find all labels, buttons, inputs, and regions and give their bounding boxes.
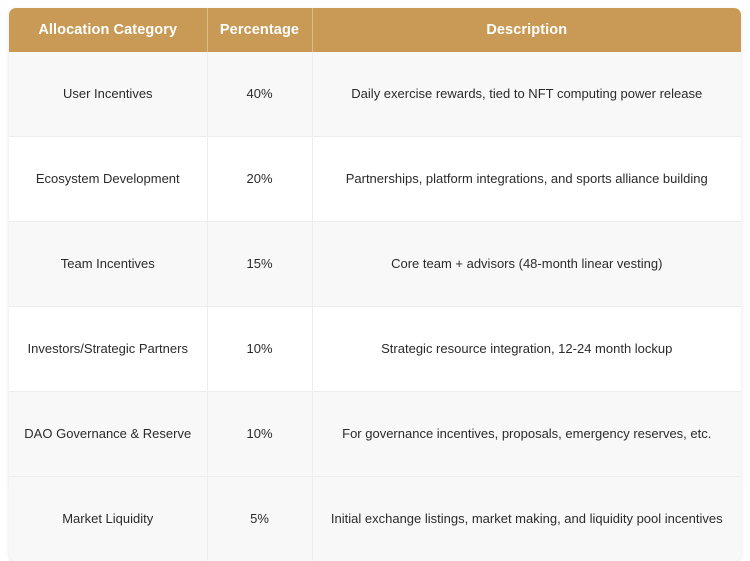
cell-description: Core team + advisors (48-month linear ve… <box>312 222 741 307</box>
cell-allocation-category: Investors/Strategic Partners <box>9 307 207 392</box>
table-row: Market Liquidity 5% Initial exchange lis… <box>9 477 741 561</box>
table-row: Ecosystem Development 20% Partnerships, … <box>9 137 741 222</box>
cell-percentage: 15% <box>207 222 312 307</box>
cell-allocation-category: Market Liquidity <box>9 477 207 561</box>
table-row: User Incentives 40% Daily exercise rewar… <box>9 52 741 137</box>
table-body: User Incentives 40% Daily exercise rewar… <box>9 52 741 561</box>
table-row: Team Incentives 15% Core team + advisors… <box>9 222 741 307</box>
cell-allocation-category: DAO Governance & Reserve <box>9 392 207 477</box>
allocation-table: Allocation Category Percentage Descripti… <box>9 8 741 561</box>
cell-percentage: 10% <box>207 307 312 392</box>
column-header-description[interactable]: Description <box>312 8 741 52</box>
page-root: Allocation Category Percentage Descripti… <box>0 0 750 488</box>
cell-percentage: 5% <box>207 477 312 561</box>
table-header-row: Allocation Category Percentage Descripti… <box>9 8 741 52</box>
cell-description: Daily exercise rewards, tied to NFT comp… <box>312 52 741 137</box>
allocation-table-container: Allocation Category Percentage Descripti… <box>9 8 741 561</box>
cell-description: Partnerships, platform integrations, and… <box>312 137 741 222</box>
cell-allocation-category: User Incentives <box>9 52 207 137</box>
cell-percentage: 10% <box>207 392 312 477</box>
cell-allocation-category: Ecosystem Development <box>9 137 207 222</box>
table-row: DAO Governance & Reserve 10% For governa… <box>9 392 741 477</box>
table-row: Investors/Strategic Partners 10% Strateg… <box>9 307 741 392</box>
column-header-percentage[interactable]: Percentage <box>207 8 312 52</box>
cell-description: Strategic resource integration, 12-24 mo… <box>312 307 741 392</box>
cell-percentage: 40% <box>207 52 312 137</box>
cell-description: Initial exchange listings, market making… <box>312 477 741 561</box>
column-header-allocation-category[interactable]: Allocation Category <box>9 8 207 52</box>
cell-description: For governance incentives, proposals, em… <box>312 392 741 477</box>
table-header: Allocation Category Percentage Descripti… <box>9 8 741 52</box>
cell-percentage: 20% <box>207 137 312 222</box>
cell-allocation-category: Team Incentives <box>9 222 207 307</box>
